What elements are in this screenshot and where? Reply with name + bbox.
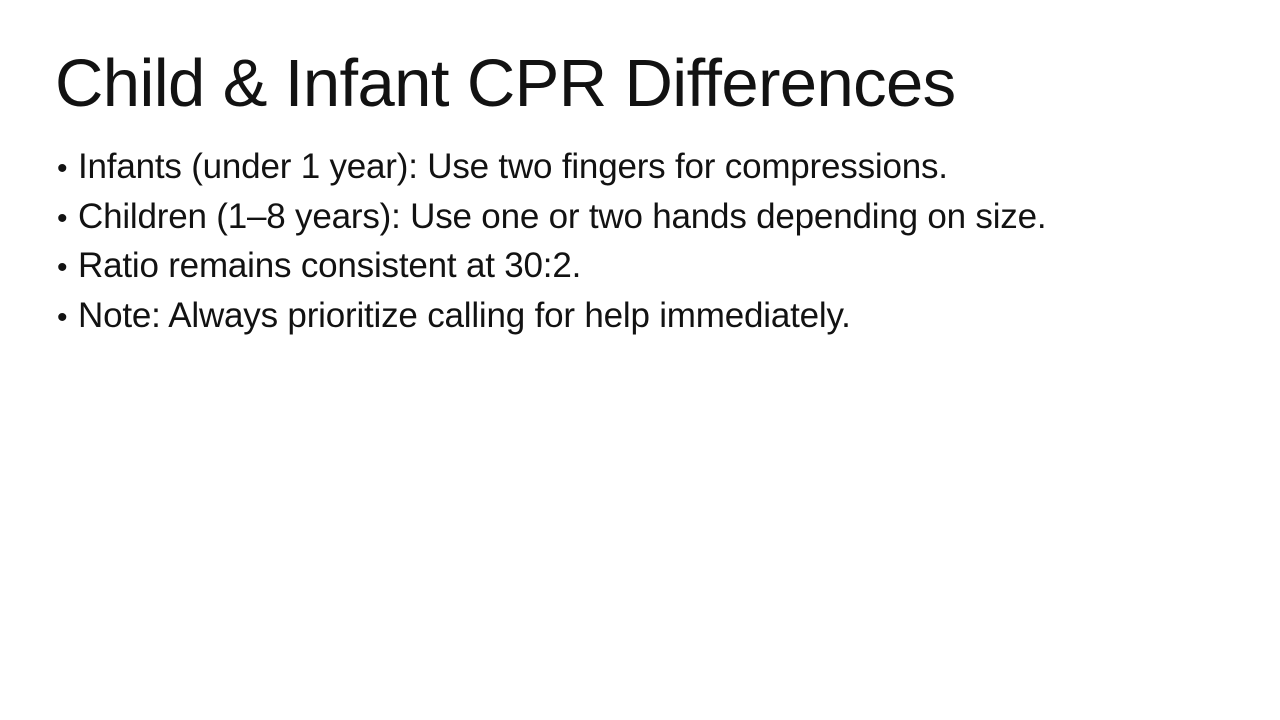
bullet-point-icon: • bbox=[57, 244, 78, 292]
list-item-label: Note: Always prioritize calling for help… bbox=[78, 292, 851, 340]
bullet-list: • Infants (under 1 year): Use two finger… bbox=[57, 143, 1217, 341]
list-item-label: Ratio remains consistent at 30:2. bbox=[78, 242, 581, 290]
list-item: • Children (1–8 years): Use one or two h… bbox=[57, 193, 1217, 243]
list-item: • Ratio remains consistent at 30:2. bbox=[57, 242, 1217, 292]
list-item-label: Infants (under 1 year): Use two fingers … bbox=[78, 143, 948, 191]
list-item-label: Children (1–8 years): Use one or two han… bbox=[78, 193, 1046, 241]
bullet-point-icon: • bbox=[57, 294, 78, 342]
list-item: • Infants (under 1 year): Use two finger… bbox=[57, 143, 1217, 193]
slide-canvas: Child & Infant CPR Differences • Infants… bbox=[0, 0, 1280, 720]
page-title: Child & Infant CPR Differences bbox=[55, 48, 1175, 119]
bullet-point-icon: • bbox=[57, 195, 78, 243]
list-item: • Note: Always prioritize calling for he… bbox=[57, 292, 1217, 342]
bullet-point-icon: • bbox=[57, 145, 78, 193]
